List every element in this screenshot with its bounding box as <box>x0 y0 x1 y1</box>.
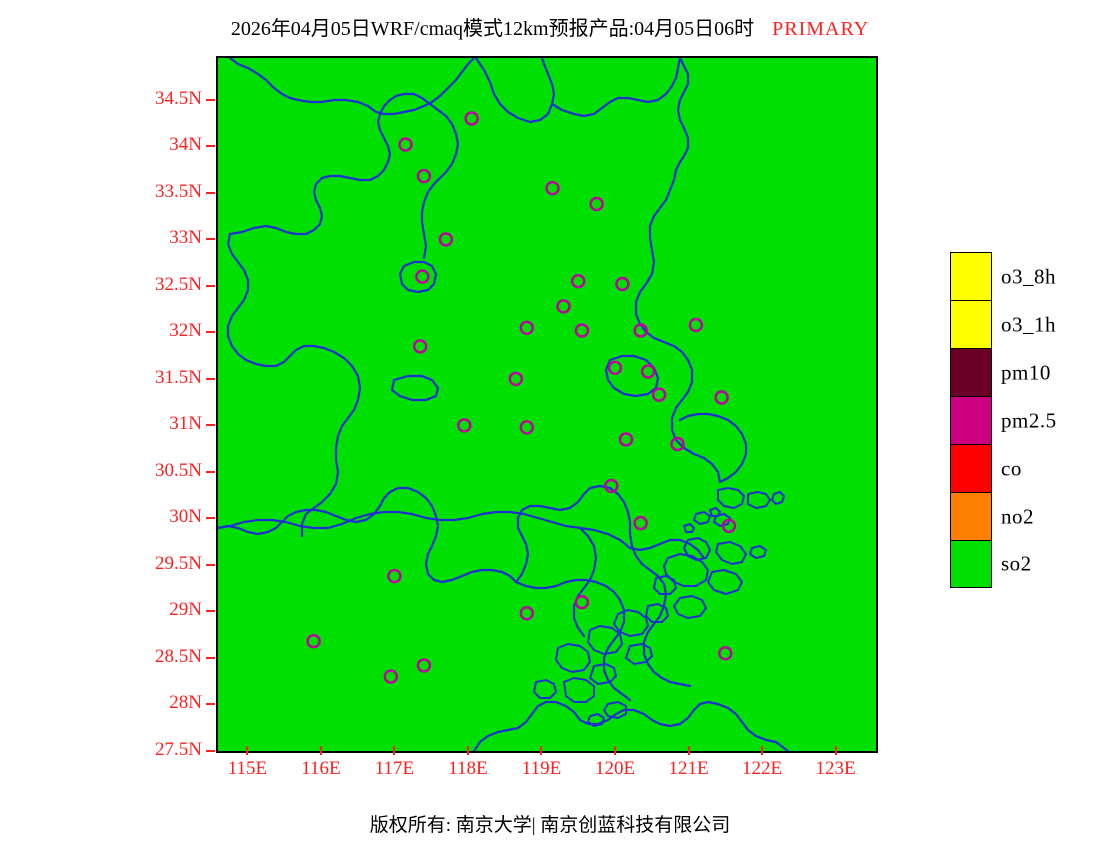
station-marker[interactable] <box>521 607 533 619</box>
y-tick-label: 34N <box>60 134 202 156</box>
station-marker[interactable] <box>416 271 428 283</box>
legend-label: no2 <box>1001 504 1034 529</box>
legend-label: o3_8h <box>1001 264 1056 289</box>
y-tick-label: 33N <box>60 227 202 249</box>
x-tick-label: 116E <box>281 758 361 780</box>
station-marker[interactable] <box>547 182 559 194</box>
station-marker[interactable] <box>609 362 621 374</box>
y-tick-label: 31.5N <box>60 367 202 389</box>
x-tick-label: 119E <box>501 758 581 780</box>
station-marker[interactable] <box>388 570 400 582</box>
y-tick-label: 32N <box>60 320 202 342</box>
x-tick-mark <box>393 746 395 755</box>
y-tick-mark <box>206 750 215 752</box>
station-marker[interactable] <box>458 419 470 431</box>
legend-label: o3_1h <box>1001 312 1056 337</box>
y-tick-mark <box>206 238 215 240</box>
y-tick-label: 34.5N <box>60 88 202 110</box>
station-marker[interactable] <box>716 392 728 404</box>
x-tick-label: 117E <box>354 758 434 780</box>
y-tick-label: 30N <box>60 506 202 528</box>
station-marker-layer <box>218 58 876 751</box>
legend-item-pm10[interactable]: pm10 <box>950 348 992 396</box>
station-marker[interactable] <box>620 433 632 445</box>
y-tick-label: 33.5N <box>60 181 202 203</box>
station-marker[interactable] <box>510 373 522 385</box>
station-marker[interactable] <box>635 517 647 529</box>
station-marker[interactable] <box>576 596 588 608</box>
chart-title-main: 2026年04月05日WRF/cmaq模式12km预报产品:04月05日06时 <box>231 18 754 40</box>
x-tick-label: 120E <box>575 758 655 780</box>
legend-item-so2[interactable]: so2 <box>950 540 992 588</box>
station-marker[interactable] <box>605 480 617 492</box>
map-plot-area[interactable] <box>216 56 878 753</box>
station-marker[interactable] <box>400 139 412 151</box>
station-marker[interactable] <box>418 170 430 182</box>
y-tick-mark <box>206 610 215 612</box>
legend-item-o38h[interactable]: o3_8h <box>950 252 992 300</box>
x-tick-label: 115E <box>207 758 287 780</box>
y-tick-mark <box>206 99 215 101</box>
station-marker[interactable] <box>616 278 628 290</box>
station-marker[interactable] <box>521 322 533 334</box>
x-tick-mark <box>540 746 542 755</box>
legend-label: so2 <box>1001 552 1032 577</box>
chart-title-primary-badge: PRIMARY <box>772 18 869 40</box>
y-tick-label: 29N <box>60 599 202 621</box>
y-tick-label: 31N <box>60 413 202 435</box>
station-marker[interactable] <box>723 520 735 532</box>
station-marker[interactable] <box>635 325 647 337</box>
x-tick-label: 122E <box>722 758 802 780</box>
x-tick-mark <box>467 746 469 755</box>
x-tick-mark <box>320 746 322 755</box>
x-tick-mark <box>246 746 248 755</box>
y-tick-label: 29.5N <box>60 553 202 575</box>
copyright-footer: 版权所有: 南京大学| 南京创蓝科技有限公司 <box>0 810 1100 837</box>
station-marker[interactable] <box>653 389 665 401</box>
y-tick-mark <box>206 703 215 705</box>
station-marker[interactable] <box>414 340 426 352</box>
y-tick-label: 27.5N <box>60 739 202 761</box>
station-marker[interactable] <box>642 366 654 378</box>
y-tick-mark <box>206 331 215 333</box>
station-marker[interactable] <box>521 421 533 433</box>
legend-label: pm10 <box>1001 360 1051 385</box>
legend-item-o31h[interactable]: o3_1h <box>950 300 992 348</box>
station-marker[interactable] <box>591 198 603 210</box>
legend-item-pm25[interactable]: pm2.5 <box>950 396 992 444</box>
station-marker[interactable] <box>385 671 397 683</box>
chart-title: 2026年04月05日WRF/cmaq模式12km预报产品:04月05日06时P… <box>0 12 1100 41</box>
station-marker[interactable] <box>558 300 570 312</box>
legend-label: pm2.5 <box>1001 408 1057 433</box>
y-tick-mark <box>206 657 215 659</box>
y-tick-label: 32.5N <box>60 274 202 296</box>
y-tick-label: 28.5N <box>60 646 202 668</box>
station-marker[interactable] <box>672 438 684 450</box>
app-root: 2026年04月05日WRF/cmaq模式12km预报产品:04月05日06时P… <box>0 0 1100 850</box>
legend-item-co[interactable]: co <box>950 444 992 492</box>
x-tick-mark <box>688 746 690 755</box>
station-marker[interactable] <box>576 325 588 337</box>
station-marker[interactable] <box>308 635 320 647</box>
y-tick-mark <box>206 564 215 566</box>
station-marker[interactable] <box>466 113 478 125</box>
y-tick-mark <box>206 145 215 147</box>
x-tick-mark <box>614 746 616 755</box>
station-marker[interactable] <box>418 659 430 671</box>
y-tick-mark <box>206 285 215 287</box>
x-tick-mark <box>835 746 837 755</box>
y-tick-mark <box>206 424 215 426</box>
x-tick-mark <box>761 746 763 755</box>
station-marker[interactable] <box>690 319 702 331</box>
y-tick-mark <box>206 192 215 194</box>
station-marker[interactable] <box>719 647 731 659</box>
y-tick-mark <box>206 378 215 380</box>
x-tick-label: 121E <box>649 758 729 780</box>
x-tick-label: 123E <box>796 758 876 780</box>
y-tick-mark <box>206 471 215 473</box>
x-tick-label: 118E <box>428 758 508 780</box>
legend-label: co <box>1001 456 1022 481</box>
legend-item-no2[interactable]: no2 <box>950 492 992 540</box>
y-tick-label: 30.5N <box>60 460 202 482</box>
station-marker[interactable] <box>572 275 584 287</box>
station-marker[interactable] <box>440 233 452 245</box>
legend[interactable]: o3_8ho3_1hpm10pm2.5cono2so2 <box>950 252 992 588</box>
y-tick-mark <box>206 517 215 519</box>
y-tick-label: 28N <box>60 692 202 714</box>
